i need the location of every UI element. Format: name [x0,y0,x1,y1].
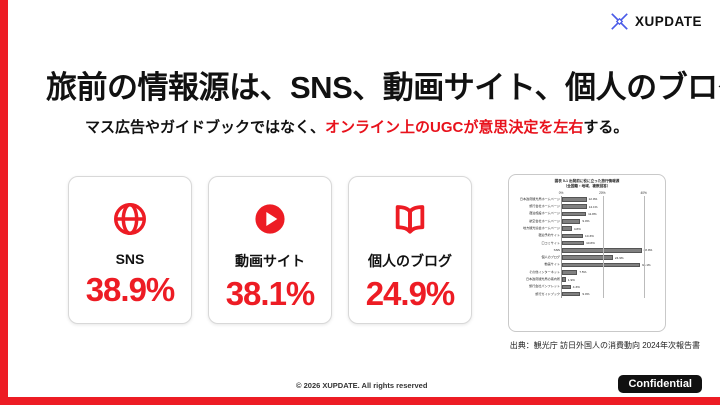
page-subtitle: マス広告やガイドブックではなく、オンライン上のUGCが意思決定を左右する。 [85,116,628,137]
chart-value-label: 7.5% [579,270,586,274]
stat-card-label: 個人のブログ [368,251,452,271]
chart-category-label: 口コミサイト [515,242,560,245]
logo-wordmark: XUPDATE [635,14,702,29]
chart-category-label: 日本政府観光局の案内所 [515,278,560,281]
chart-bar-row: SNS38.9% [562,247,654,254]
chart-title-sub: （全国籍・地域、複数回答） [514,184,660,189]
chart-plot-area: 日本政府観光局ホームページ12.0%旅行会社ホームページ12.1%宿泊施設ホーム… [561,196,654,298]
stat-card-label: SNS [116,251,145,267]
subtitle-tail: する。 [583,119,628,136]
stat-card-value: 24.9% [366,275,455,313]
chart-bar-row: その他インターネット7.5% [562,269,654,276]
chart-x-tick: 0% [559,191,564,195]
subtitle-lead: マス広告やガイドブックではなく、 [85,119,325,136]
chart-value-label: 4.8% [574,227,581,231]
chart-gridline [644,196,645,298]
stat-card-value: 38.1% [226,275,315,313]
chart-gridline [603,196,604,298]
chart-bar-row: 口コミサイト10.8% [562,239,654,246]
chart-category-label: 宿泊予約サイト [515,234,560,237]
chart-bar-row: 宿泊施設ホームページ11.8% [562,210,654,217]
page-title: 旅前の情報源は、SNS、動画サイト、個人のブログ。 [46,62,720,107]
chart-bar [562,270,577,275]
chart-category-label: 旅行ガイドブック [515,293,560,296]
footer-copyright: © 2026 XUPDATE. All rights reserved [296,381,427,390]
chart-bar-row: 動画サイト38.1% [562,261,654,268]
left-red-accent-bar [0,0,8,397]
stat-card-sns: SNS 38.9% [68,176,192,324]
chart-bar [562,241,584,246]
chart-value-label: 4.3% [573,285,580,289]
chart-bar-row: 旅行ガイドブック9.0% [562,291,654,298]
chart-value-label: 24.9% [615,256,624,260]
stat-card-label: 動画サイト [235,251,305,271]
chart-value-label: 10.8% [586,241,595,245]
slide-canvas: XUPDATE 旅前の情報源は、SNS、動画サイト、個人のブログ。 マス広告やガ… [0,0,720,405]
chart-category-label: SNS [515,249,560,252]
chart-x-tick: 20% [599,191,605,195]
chart-value-label: 9.0% [582,292,589,296]
globe-icon [111,199,149,239]
chart-category-label: 日本政府観光局ホームページ [515,198,560,201]
chart-category-label: その他インターネット [515,271,560,274]
chart-bar [562,292,580,297]
chart-value-label: 1.9% [568,278,575,282]
chart-bar-rows: 日本政府観光局ホームページ12.0%旅行会社ホームページ12.1%宿泊施設ホーム… [562,196,654,298]
chart-value-label: 12.0% [589,197,598,201]
chart-bar-row: 宿泊予約サイト10.3% [562,232,654,239]
source-chart-panel: 図表 5-1 出発前に役に立った旅行情報源 （全国籍・地域、複数回答） 0%20… [508,174,666,332]
play-icon [251,199,289,239]
status-badge-confidential: Confidential [618,375,702,393]
chart-bar [562,219,580,224]
stat-card-blog: 個人のブログ 24.9% [348,176,472,324]
chart-bar [562,277,566,282]
chart-bar [562,197,587,202]
source-note: 出典：観光庁 訪日外国人の消費動向 2024年次報告書 [510,340,700,351]
chart-bar-row: 個人のブログ24.9% [562,254,654,261]
chart-bar [562,248,642,253]
chart-bar [562,226,572,231]
stat-card-group: SNS 38.9% 動画サイト 38.1% 個人のブログ 24.9% [68,176,472,324]
chart-value-label: 12.1% [589,205,598,209]
chart-bar [562,234,583,239]
stat-card-value: 38.9% [86,271,175,309]
brand-logo: XUPDATE [610,12,702,31]
chart-value-label: 11.8% [588,212,597,216]
chart-bar-row: 地方観光協会ホームページ4.8% [562,225,654,232]
chart-bar [562,263,640,268]
chart-category-label: 地方観光協会ホームページ [515,227,560,230]
chart-bar [562,285,571,290]
chart-category-label: 宿泊施設ホームページ [515,212,560,215]
chart-category-label: 旅行会社ホームページ [515,205,560,208]
chart-value-label: 9.0% [582,219,589,223]
chart-value-label: 38.9% [644,248,653,252]
chart-bar-row: 日本政府観光局ホームページ12.0% [562,196,654,203]
chart-x-tick: 40% [640,191,646,195]
chart-bar-row: 旅行会社パンフレット4.3% [562,283,654,290]
chart-bar [562,212,586,217]
stat-card-video: 動画サイト 38.1% [208,176,332,324]
open-book-icon [391,199,429,239]
chart-bar-row: 旅行会社ホームページ12.1% [562,203,654,210]
chart-category-label: 航空会社ホームページ [515,220,560,223]
subtitle-highlight: オンライン上のUGCが意思決定を左右 [325,119,583,136]
chart-category-label: 旅行会社パンフレット [515,285,560,288]
chart-bar-row: 航空会社ホームページ9.0% [562,218,654,225]
chart-bar [562,204,587,209]
chart-bar-row: 日本政府観光局の案内所1.9% [562,276,654,283]
chart-title: 図表 5-1 出発前に役に立った旅行情報源 （全国籍・地域、複数回答） [514,179,660,189]
chart-category-label: 動画サイト [515,263,560,266]
chart-bar [562,255,613,260]
chart-value-label: 10.3% [585,234,594,238]
xupdate-x-mark-icon [610,12,629,31]
chart-category-label: 個人のブログ [515,256,560,259]
bottom-red-accent-bar [0,397,720,405]
